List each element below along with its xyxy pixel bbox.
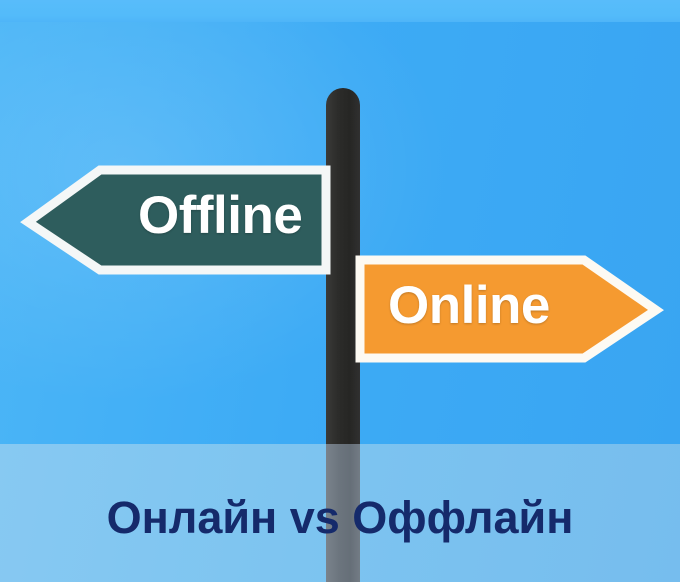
- caption-text: Онлайн vs Оффлайн: [0, 492, 680, 544]
- offline-sign[interactable]: Offline: [20, 162, 332, 278]
- offline-sign-label: Offline: [138, 189, 302, 242]
- sky-top-band: [0, 0, 680, 22]
- online-sign[interactable]: Online: [356, 252, 664, 366]
- signpost-illustration: Offline Online Онлайн vs Оффлайн: [0, 0, 680, 582]
- online-sign-label: Online: [388, 279, 550, 332]
